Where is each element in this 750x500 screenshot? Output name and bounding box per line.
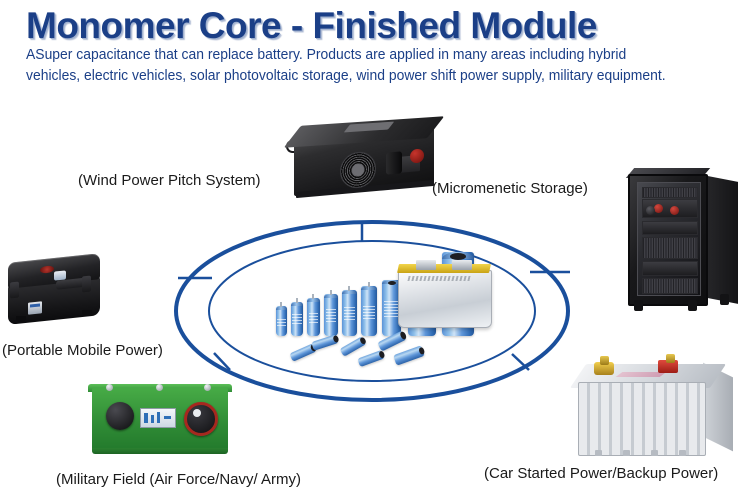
display-bar — [151, 415, 154, 423]
callout-label-military: (Military Field (Air Force/Navy/ Army) — [56, 471, 301, 489]
case-latch — [10, 282, 19, 299]
capacitor-terminal — [333, 335, 340, 343]
capacitor-print — [277, 317, 285, 326]
rack-knob-black — [646, 206, 655, 215]
battery-post-negative — [666, 354, 675, 363]
capacitor-print — [363, 304, 375, 319]
capacitor-cell — [361, 286, 377, 336]
capacitor-cell-lying — [339, 336, 366, 357]
rack-knob-red — [670, 206, 679, 215]
military-connector-red — [184, 402, 218, 436]
capacitor-cell-lying — [393, 345, 425, 366]
capacitor-terminal — [418, 346, 425, 355]
rack-frame — [628, 174, 708, 306]
product-portable-mobile-power — [4, 252, 108, 344]
callout-label-micromenetic: (Micromenetic Storage) — [432, 180, 588, 198]
rack-vent-unit — [642, 187, 698, 198]
product-military-field-power — [84, 378, 240, 466]
capacitor-cell — [307, 298, 320, 336]
capacitor-terminal — [378, 351, 385, 359]
capacitor-cell-lying — [357, 350, 385, 367]
rack-vent-unit — [642, 278, 698, 294]
capacitor-print — [309, 312, 319, 323]
rack-vent-unit — [642, 237, 698, 259]
rack-caster — [720, 294, 729, 305]
capacitor-lead — [348, 286, 350, 291]
capacitor-cell — [342, 290, 357, 336]
battery-vent — [595, 450, 602, 456]
capacitor-print — [384, 300, 398, 317]
page-subtitle: ASuper capacitance that can replace batt… — [26, 45, 667, 87]
pouch-print — [407, 276, 470, 281]
capacitor-cell — [291, 302, 303, 336]
capacitor-lead — [280, 302, 282, 307]
rack-module — [642, 221, 698, 235]
capacitor-lead — [368, 282, 370, 287]
display-bar — [144, 413, 148, 423]
capacitor-lead — [330, 290, 332, 295]
battery-vent — [651, 450, 658, 456]
capacitor-terminal — [359, 337, 367, 345]
rack-caster — [634, 300, 643, 311]
battery-vent — [679, 450, 686, 456]
pouch-tab-negative — [452, 260, 472, 270]
capacitor-cell — [276, 306, 287, 336]
case-outlet — [28, 301, 42, 314]
battery-vent — [623, 450, 630, 456]
battery-case — [578, 382, 706, 456]
capacitor-cell-lying — [311, 334, 339, 351]
capacitor-print — [326, 309, 337, 322]
callout-label-portable: (Portable Mobile Power) — [2, 342, 163, 360]
military-box-base — [92, 448, 228, 454]
mount-screw — [156, 384, 163, 391]
pouch-tab-positive — [416, 260, 436, 270]
display-bar — [157, 412, 160, 423]
product-micromenetic-storage — [624, 172, 746, 318]
capacitor-lead — [312, 294, 314, 299]
slide-canvas: Monomer Core - Finished Module ASuper ca… — [0, 0, 750, 500]
battery-post-positive — [600, 356, 609, 365]
box-connector-black — [386, 151, 402, 174]
capacitor-print — [292, 314, 301, 324]
capacitor-lead — [296, 298, 298, 303]
product-wind-power-pitch-system — [282, 116, 452, 200]
callout-label-wind: (Wind Power Pitch System) — [78, 172, 261, 190]
capacitor-cell — [324, 294, 338, 336]
military-connector-black — [106, 402, 134, 430]
rack-knob-red — [654, 204, 663, 213]
mount-screw — [204, 384, 211, 391]
pouch-seal — [397, 264, 491, 273]
case-wheel — [16, 316, 26, 322]
product-car-started-power — [572, 360, 742, 464]
pouch-cell — [398, 262, 494, 330]
display-bar — [164, 416, 171, 419]
case-wheel — [82, 310, 92, 316]
mount-screw — [106, 384, 113, 391]
case-latch — [82, 276, 91, 293]
page-title: Monomer Core - Finished Module — [26, 4, 726, 48]
capacitor-print — [344, 307, 355, 321]
capacitor-vent — [450, 253, 466, 260]
rack-caster — [688, 300, 697, 311]
military-display-panel — [140, 408, 176, 428]
callout-label-car: (Car Started Power/Backup Power) — [484, 465, 718, 483]
rack-module — [642, 261, 698, 276]
capacitor-terminal — [399, 331, 407, 340]
capacitor-vent — [388, 281, 396, 285]
rack-glass-door — [637, 182, 701, 296]
